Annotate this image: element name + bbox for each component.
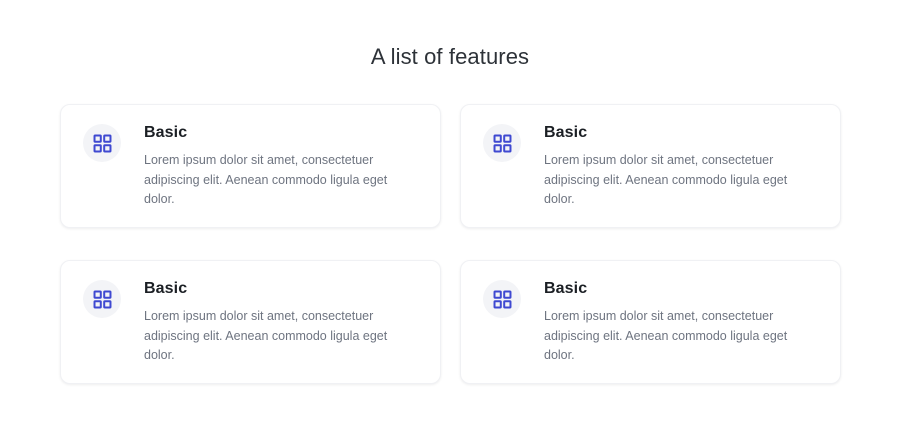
feature-heading: Basic: [144, 279, 406, 299]
feature-heading: Basic: [544, 279, 806, 299]
grid-2x2-icon: [483, 280, 521, 318]
grid-2x2-icon: [83, 280, 121, 318]
features-grid: Basic Lorem ipsum dolor sit amet, consec…: [60, 104, 841, 384]
feature-heading: Basic: [144, 123, 406, 143]
feature-heading: Basic: [544, 123, 806, 143]
features-page: A list of features Basic Lorem ipsum dol…: [0, 0, 900, 440]
grid-2x2-icon: [83, 124, 121, 162]
feature-card[interactable]: Basic Lorem ipsum dolor sit amet, consec…: [60, 260, 441, 384]
feature-description: Lorem ipsum dolor sit amet, consectetuer…: [544, 151, 806, 210]
feature-card[interactable]: Basic Lorem ipsum dolor sit amet, consec…: [460, 260, 841, 384]
feature-body: Basic Lorem ipsum dolor sit amet, consec…: [544, 123, 806, 210]
feature-body: Basic Lorem ipsum dolor sit amet, consec…: [144, 279, 406, 366]
feature-description: Lorem ipsum dolor sit amet, consectetuer…: [544, 307, 806, 366]
grid-2x2-icon: [483, 124, 521, 162]
feature-description: Lorem ipsum dolor sit amet, consectetuer…: [144, 151, 406, 210]
feature-card[interactable]: Basic Lorem ipsum dolor sit amet, consec…: [60, 104, 441, 228]
feature-card[interactable]: Basic Lorem ipsum dolor sit amet, consec…: [460, 104, 841, 228]
feature-description: Lorem ipsum dolor sit amet, consectetuer…: [144, 307, 406, 366]
feature-body: Basic Lorem ipsum dolor sit amet, consec…: [544, 279, 806, 366]
feature-body: Basic Lorem ipsum dolor sit amet, consec…: [144, 123, 406, 210]
page-title: A list of features: [0, 42, 900, 72]
